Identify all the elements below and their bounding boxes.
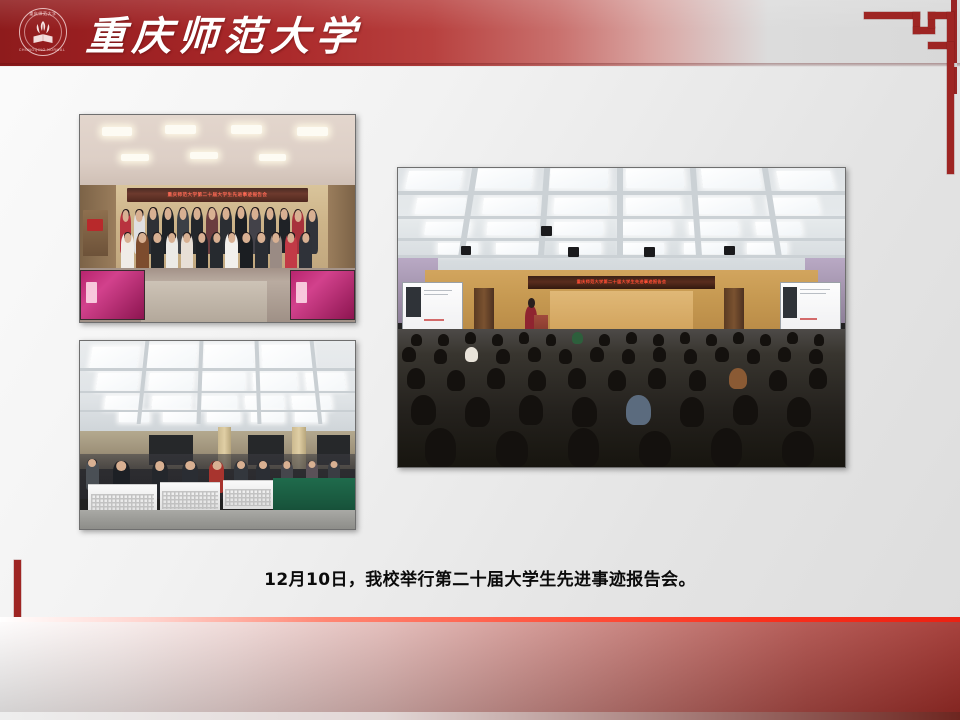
photo-stage-banner: 重庆师范大学第二十届大学生先进事迹报告会 [528,276,716,289]
photo-display-screen-left [80,270,145,320]
photo-stage-banner: 重庆师范大学第二十届大学生先进事迹报告会 [127,188,309,201]
slide-caption: 12月10日，我校举行第二十届大学生先进事迹报告会。 [0,565,960,590]
photo-table [160,482,221,513]
photo-wall-right [328,185,356,272]
photo-projection-screen-right [780,282,840,335]
seal-emblem-icon [31,19,55,45]
photo-podium [83,210,108,256]
photo-floor [80,510,355,529]
header-base-shadow [0,63,960,67]
bottom-band [0,622,960,712]
conference-hall-photo [79,340,356,530]
photo-stage-banner-text: 重庆师范大学第二十届大学生先进事迹报告会 [168,192,268,198]
photo-speaker-head [528,298,535,308]
photo-display-screen-right [290,270,355,320]
bottom-foot-strip [0,712,960,720]
photo-stage-banner-text: 重庆师范大学第二十届大学生先进事迹报告会 [577,279,667,285]
photo-stage-step [141,281,268,322]
auditorium-audience-photo: 重庆师范大学第二十届大学生先进事迹报告会 [397,167,846,468]
group-photo-on-stage: 重庆师范大学第二十届大学生先进事迹报告会 [79,114,356,323]
photo-projection-screen-left [402,282,462,335]
photo-table [223,480,273,509]
corner-ornament-top-right-icon [864,8,960,174]
slide-canvas: 重庆师范大学 CHONGQING NORMAL UNIVERSITY 重庆师范大… [0,0,960,720]
seal-ring-text-top: 重庆师范大学 [19,11,67,16]
page-title: 重庆师范大学 [85,7,364,59]
seal-ring-text-bottom: CHONGQING NORMAL UNIVERSITY [19,48,67,53]
photo-ceiling [80,115,355,190]
university-seal-icon: 重庆师范大学 CHONGQING NORMAL UNIVERSITY [19,8,69,58]
